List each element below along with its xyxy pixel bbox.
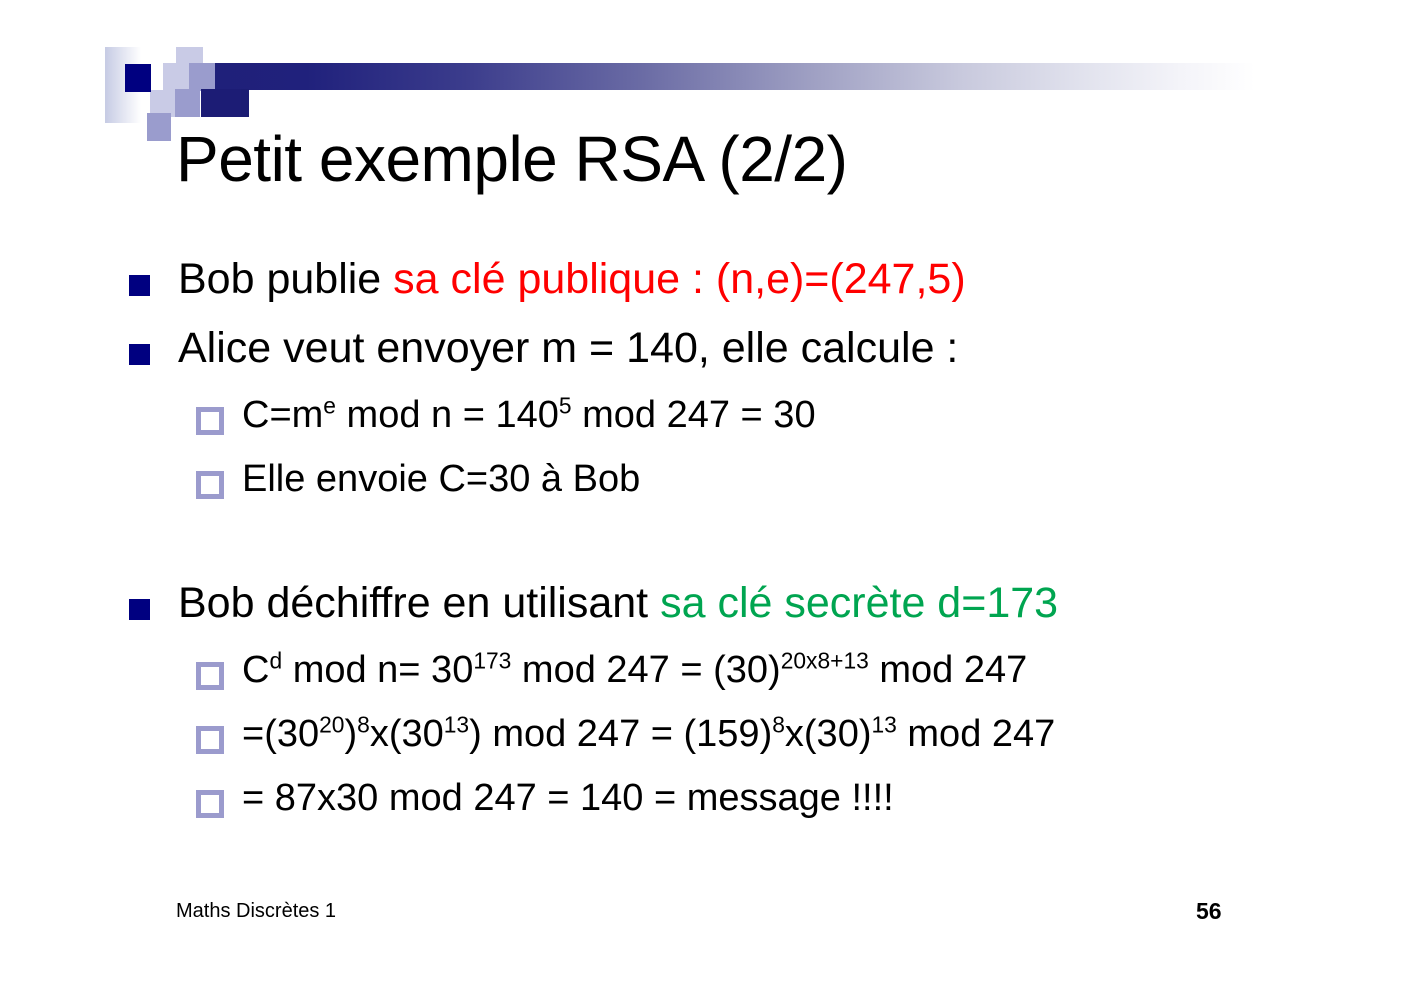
sub-3-part-2: mod n= 30	[282, 649, 473, 691]
bullet-square-icon	[129, 344, 150, 365]
sub-5-text: = 87x30 mod 247 = 140 = message !!!!	[242, 777, 894, 819]
vertical-spacer	[126, 524, 1356, 582]
sub-1-sup-1: e	[323, 392, 336, 418]
sub-3-sup-1: d	[269, 647, 282, 673]
sub-4-sup-1: 20	[319, 711, 344, 737]
sub-3-part-1: C	[242, 649, 269, 691]
bullet-item-2: Alice veut envoyer m = 140, elle calcule…	[126, 327, 1356, 370]
sub-bullet-item-1: C=me mod n = 1405 mod 247 = 30	[126, 396, 1356, 434]
sub-bullet-item-2: Elle envoie C=30 à Bob	[126, 460, 1356, 498]
deco-navy-block	[201, 89, 241, 117]
slide-body: Bob publie sa clé publique : (n,e)=(247,…	[126, 258, 1356, 843]
page-number: 56	[1196, 898, 1222, 925]
slide-canvas: Petit exemple RSA (2/2) Bob publie sa cl…	[0, 0, 1404, 988]
sub-1-part-2: mod n = 140	[336, 394, 559, 436]
footer-label: Maths Discrètes 1	[176, 900, 336, 923]
sub-1-part-3: mod 247 = 30	[572, 394, 816, 436]
deco-square-mid-low	[147, 113, 171, 141]
sub-4-part-5: x(30)	[785, 713, 872, 755]
bullet-2-text: Alice veut envoyer m = 140, elle calcule…	[178, 324, 958, 372]
hollow-square-icon	[196, 471, 224, 499]
sub-4-part-2: )	[344, 713, 357, 755]
sub-4-part-4: ) mod 247 = (159)	[469, 713, 772, 755]
sub-4-part-1: =(30	[242, 713, 319, 755]
bullet-square-icon	[129, 275, 150, 296]
deco-square-pale-mid	[163, 63, 189, 91]
sub-1-sup-2: 5	[559, 392, 572, 418]
hollow-square-icon	[196, 790, 224, 818]
bullet-item-3: Bob déchiffre en utilisant sa clé secrèt…	[126, 582, 1356, 625]
bullet-square-icon	[129, 599, 150, 620]
slide-title: Petit exemple RSA (2/2)	[176, 126, 847, 193]
sub-4-part-6: mod 247	[897, 713, 1055, 755]
sub-4-sup-4: 8	[772, 711, 785, 737]
header-decoration	[105, 45, 1255, 130]
deco-gradient-bar	[201, 63, 1255, 90]
bullet-3-text-green: sa clé secrète d=173	[660, 579, 1058, 627]
bullet-3-text-black: Bob déchiffre en utilisant	[178, 579, 660, 627]
deco-square-navy	[125, 64, 151, 92]
sub-1-part-1: C=m	[242, 394, 323, 436]
bullet-item-1: Bob publie sa clé publique : (n,e)=(247,…	[126, 258, 1356, 301]
sub-4-sup-5: 13	[871, 711, 896, 737]
deco-square-mid-center	[175, 89, 200, 117]
sub-4-sup-2: 8	[357, 711, 370, 737]
bullet-1-text-black: Bob publie	[178, 255, 393, 303]
sub-bullet-item-5: = 87x30 mod 247 = 140 = message !!!!	[126, 779, 1356, 817]
hollow-square-icon	[196, 407, 224, 435]
deco-square-mid-top	[189, 63, 215, 91]
sub-3-sup-3: 20x8+13	[781, 647, 869, 673]
sub-4-part-3: x(30	[370, 713, 444, 755]
bullet-1-text-red: sa clé publique : (n,e)=(247,5)	[393, 255, 965, 303]
sub-2-text: Elle envoie C=30 à Bob	[242, 458, 640, 500]
sub-bullet-item-4: =(3020)8x(3013) mod 247 = (159)8x(30)13 …	[126, 715, 1356, 753]
sub-3-part-3: mod 247 = (30)	[511, 649, 780, 691]
sub-3-part-4: mod 247	[869, 649, 1027, 691]
sub-bullet-item-3: Cd mod n= 30173 mod 247 = (30)20x8+13 mo…	[126, 651, 1356, 689]
hollow-square-icon	[196, 726, 224, 754]
hollow-square-icon	[196, 662, 224, 690]
sub-3-sup-2: 173	[473, 647, 511, 673]
sub-4-sup-3: 13	[444, 711, 469, 737]
